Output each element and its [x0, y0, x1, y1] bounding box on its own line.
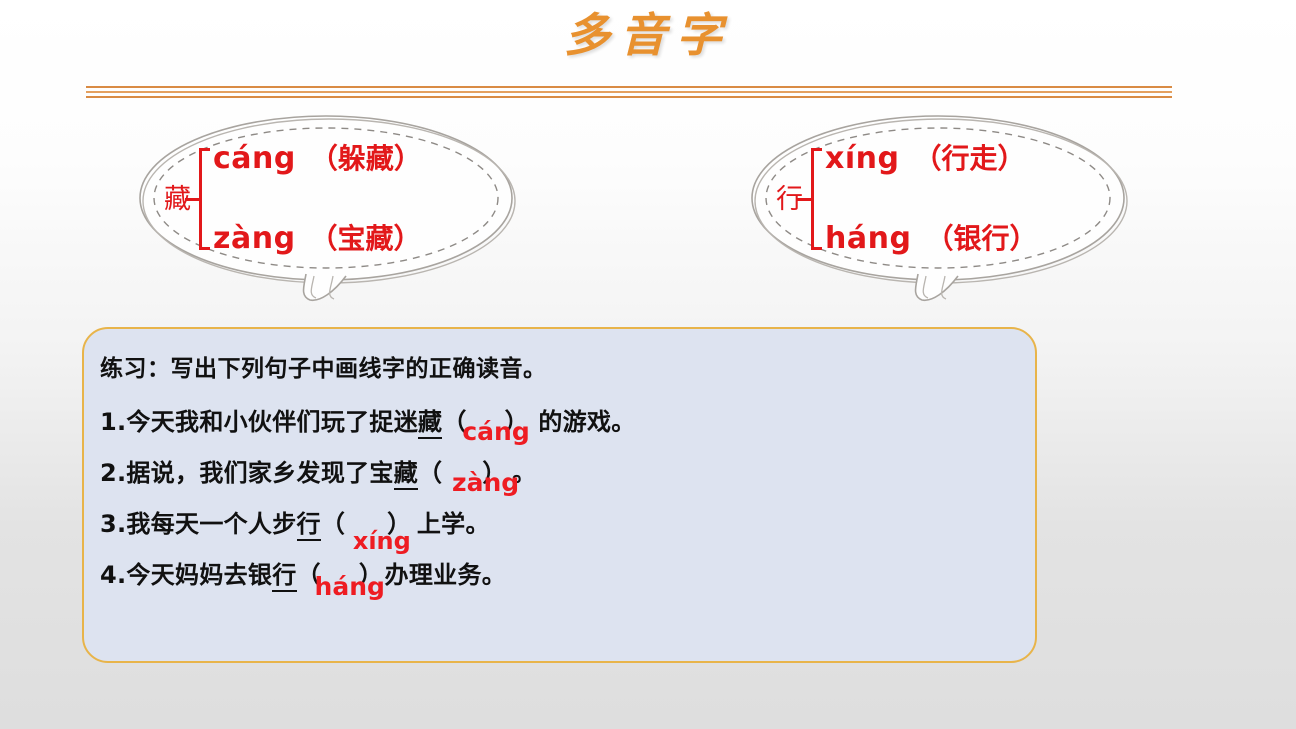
- pinyin-text: zàng: [213, 224, 296, 254]
- bracket-xing: [805, 144, 819, 254]
- item-number: 1.: [100, 408, 126, 436]
- answer-pinyin: zàng: [452, 470, 519, 495]
- item-underlined-char: 行: [297, 510, 321, 541]
- item-answer-slot: （） cáng: [442, 397, 538, 448]
- item-underlined-char: 行: [272, 561, 296, 592]
- gloss-text: （银行）: [925, 225, 1037, 253]
- exercise-item-4: 4.今天妈妈去银行 （） háng 办理业务。: [100, 550, 1021, 601]
- item-text-pre: 我每天一个人步: [126, 510, 296, 538]
- exercise-item-1: 1.今天我和小伙伴们玩了捉迷藏 （） cáng 的游戏。: [100, 397, 1021, 448]
- item-answer-slot: （） zàng: [418, 448, 512, 499]
- paren-open: （: [321, 510, 345, 538]
- speech-bubble-cang: 藏 cáng （躲藏） zàng （宝藏）: [128, 104, 528, 304]
- answer-pinyin: cáng: [462, 419, 529, 444]
- divider-line-bottom: [86, 96, 1172, 98]
- item-underlined-char: 藏: [418, 408, 442, 439]
- item-answer-slot: （） háng: [297, 550, 385, 601]
- reading-row: cáng （躲藏）: [213, 144, 422, 174]
- item-number: 3.: [100, 510, 126, 538]
- item-answer-slot: （） xíng: [321, 499, 417, 550]
- gloss-text: （宝藏）: [310, 225, 422, 253]
- item-text-post: 上学。: [417, 510, 490, 538]
- item-text-post: 办理业务。: [385, 561, 507, 589]
- item-underlined-char: 藏: [394, 459, 418, 490]
- exercise-panel: 练习：写出下列句子中画线字的正确读音。 1.今天我和小伙伴们玩了捉迷藏 （） c…: [82, 327, 1037, 663]
- exercise-heading: 练习：写出下列句子中画线字的正确读音。: [100, 349, 1021, 383]
- pinyin-text: xíng: [825, 144, 899, 174]
- gloss-text: （行走）: [913, 145, 1025, 173]
- reading-row: zàng （宝藏）: [213, 224, 422, 254]
- item-number: 4.: [100, 561, 126, 589]
- paren-open: （: [418, 459, 442, 487]
- bubble-content-cang: 藏 cáng （躲藏） zàng （宝藏）: [164, 144, 422, 254]
- item-text-pre: 今天妈妈去银: [126, 561, 272, 589]
- pinyin-text: háng: [825, 224, 911, 254]
- bubble-readings-xing: xíng （行走） háng （银行）: [819, 144, 1037, 254]
- page-title: 多音字: [0, 12, 1296, 58]
- exercise-item-3: 3.我每天一个人步行 （） xíng 上学。: [100, 499, 1021, 550]
- divider-line-top: [86, 86, 1172, 88]
- title-divider: [86, 86, 1172, 100]
- item-number: 2.: [100, 459, 126, 487]
- exercise-panel-inner: 练习：写出下列句子中画线字的正确读音。 1.今天我和小伙伴们玩了捉迷藏 （） c…: [100, 349, 1021, 651]
- gloss-text: （躲藏）: [310, 145, 422, 173]
- item-text-pre: 据说，我们家乡发现了宝: [126, 459, 393, 487]
- speech-bubble-xing: 行 xíng （行走） háng （银行）: [740, 104, 1140, 304]
- bracket-cang: [193, 144, 207, 254]
- divider-line-middle: [86, 91, 1172, 93]
- reading-row: xíng （行走）: [825, 144, 1037, 174]
- bubble-content-xing: 行 xíng （行走） háng （银行）: [776, 144, 1037, 254]
- answer-pinyin: háng: [315, 574, 385, 599]
- pinyin-text: cáng: [213, 144, 296, 174]
- exercise-item-2: 2.据说，我们家乡发现了宝藏 （） zàng 。: [100, 448, 1021, 499]
- item-text-pre: 今天我和小伙伴们玩了捉迷: [126, 408, 418, 436]
- slide-canvas: 多音字 藏 cáng （躲藏）: [0, 0, 1296, 729]
- bubble-readings-cang: cáng （躲藏） zàng （宝藏）: [207, 144, 422, 254]
- item-text-post: 的游戏。: [538, 408, 635, 436]
- reading-row: háng （银行）: [825, 224, 1037, 254]
